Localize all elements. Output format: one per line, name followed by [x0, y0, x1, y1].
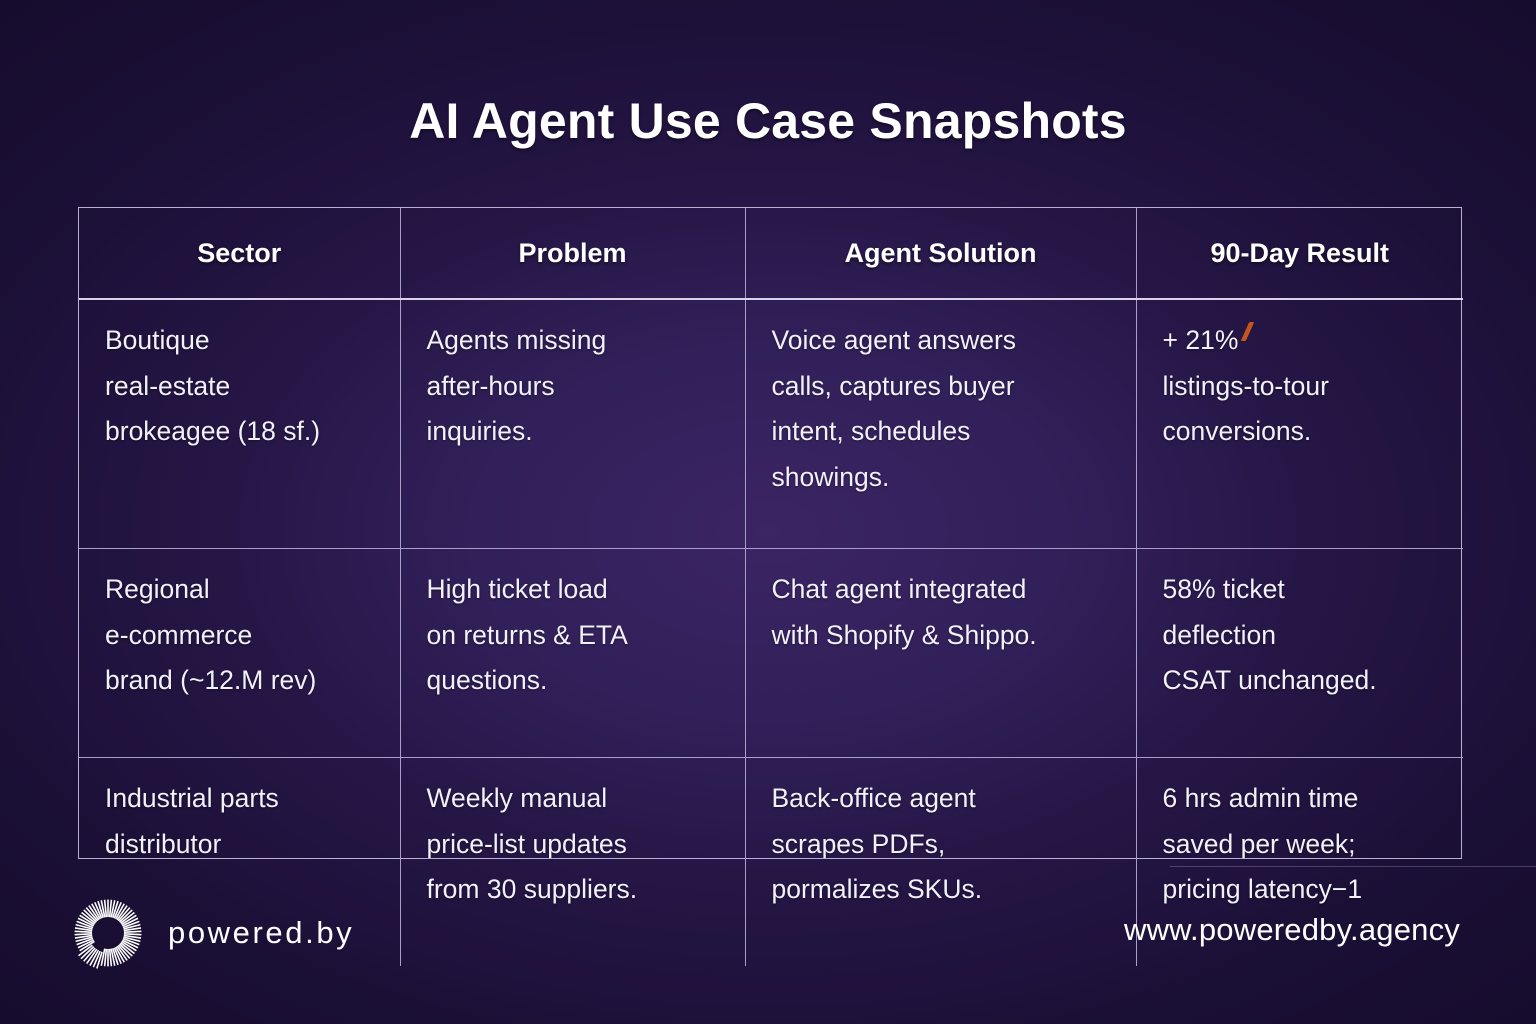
cell-text-line: from 30 suppliers.: [427, 867, 731, 913]
cell-problem: High ticket load on returns & ETA questi…: [400, 549, 745, 758]
cell-text-line: deflection: [1163, 613, 1450, 659]
table-header-row: Sector Problem Agent Solution 90-Day Res…: [79, 208, 1463, 299]
cell-problem: Weekly manual price-list updates from 30…: [400, 758, 745, 967]
cell-text-line: on returns & ETA: [427, 613, 731, 659]
sunburst-ring-icon: [70, 895, 146, 971]
use-case-table: Sector Problem Agent Solution 90-Day Res…: [78, 207, 1462, 859]
cell-text-line: Back-office agent: [772, 776, 1122, 822]
cell-text-line: conversions.: [1163, 409, 1450, 455]
cell-text-line: brokeagee (18 sf.): [105, 409, 386, 455]
cell-problem: Agents missing after-hours inquiries.: [400, 299, 745, 549]
cell-sector: Regional e-commerce brand (~12.M rev): [79, 549, 400, 758]
cell-agent-solution: Chat agent integrated with Shopify & Shi…: [745, 549, 1136, 758]
column-header-90-day-result: 90-Day Result: [1136, 208, 1463, 299]
cell-text-line: Voice agent answers: [772, 318, 1122, 364]
column-header-sector: Sector: [79, 208, 400, 299]
cell-text-line-with-mark: + 21%: [1163, 318, 1450, 364]
column-header-agent-solution: Agent Solution: [745, 208, 1136, 299]
footer-url[interactable]: www.poweredby.agency: [1124, 912, 1460, 948]
cell-text-line: after-hours: [427, 364, 731, 410]
cell-text-line: scrapes PDFs,: [772, 822, 1122, 868]
cell-text-line: Chat agent integrated: [772, 567, 1122, 613]
cell-text-line: listings-to-tour: [1163, 364, 1450, 410]
cell-90-day-result: 58% ticket deflection CSAT unchanged.: [1136, 549, 1463, 758]
table-body: Boutique real-estate brokeagee (18 sf.) …: [79, 299, 1463, 966]
cell-sector: Boutique real-estate brokeagee (18 sf.): [79, 299, 400, 549]
cell-agent-solution: Back-office agent scrapes PDFs, pormaliz…: [745, 758, 1136, 967]
up-arrow-icon: [1242, 322, 1256, 342]
cell-agent-solution: Voice agent answers calls, captures buye…: [745, 299, 1136, 549]
cell-90-day-result: + 21% listings-to-tour conversions.: [1136, 299, 1463, 549]
slide-canvas: AI Agent Use Case Snapshots Sector Probl…: [0, 0, 1536, 1024]
cell-text-line: inquiries.: [427, 409, 731, 455]
cell-text-line: intent, schedules: [772, 409, 1122, 455]
cell-text-line: with Shopify & Shippo.: [772, 613, 1122, 659]
cell-text-line: distributor: [105, 822, 386, 868]
cell-text-line: price-list updates: [427, 822, 731, 868]
cell-text-line: showings.: [772, 455, 1122, 501]
cell-text-line: Industrial parts: [105, 776, 386, 822]
cell-text-line: real-estate: [105, 364, 386, 410]
cell-text-line: CSAT unchanged.: [1163, 658, 1450, 704]
cell-text-line: pormalizes SKUs.: [772, 867, 1122, 913]
table-row: Regional e-commerce brand (~12.M rev) Hi…: [79, 549, 1463, 758]
page-title: AI Agent Use Case Snapshots: [0, 92, 1536, 150]
brand-name: powered.by: [168, 915, 354, 951]
result-metric: + 21%: [1163, 325, 1239, 355]
cell-text-line: High ticket load: [427, 567, 731, 613]
cell-text-line: e-commerce: [105, 613, 386, 659]
cell-text-line: Boutique: [105, 318, 386, 364]
column-header-problem: Problem: [400, 208, 745, 299]
footer-brand[interactable]: powered.by: [70, 895, 354, 971]
cell-text-line: Weekly manual: [427, 776, 731, 822]
cell-text-line: pricing latency−1: [1163, 867, 1450, 913]
cell-text-line: questions.: [427, 658, 731, 704]
cell-text-line: 6 hrs admin time: [1163, 776, 1450, 822]
cell-text-line: Regional: [105, 567, 386, 613]
cell-text-line: calls, captures buyer: [772, 364, 1122, 410]
cell-text-line: 58% ticket: [1163, 567, 1450, 613]
table-row: Boutique real-estate brokeagee (18 sf.) …: [79, 299, 1463, 549]
cell-text-line: saved per week;: [1163, 822, 1450, 868]
cell-text-line: brand (~12.M rev): [105, 658, 386, 704]
cell-text-line: Agents missing: [427, 318, 731, 364]
